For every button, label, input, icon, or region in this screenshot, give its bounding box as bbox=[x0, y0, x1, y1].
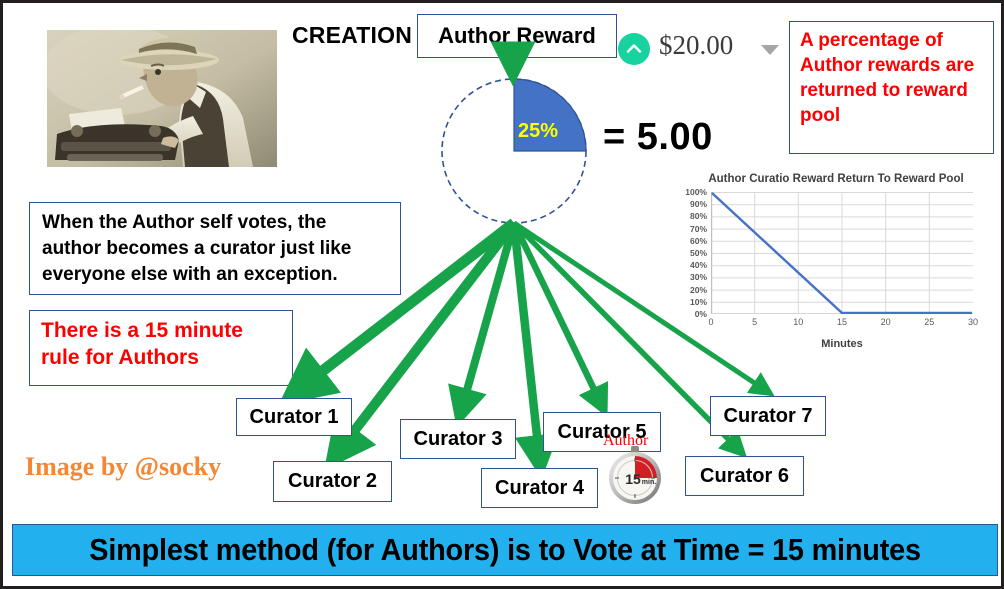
y-tick: 30% bbox=[690, 272, 707, 282]
curator-box-3: Curator 3 bbox=[400, 419, 516, 459]
y-tick: 20% bbox=[690, 285, 707, 295]
reward-pool-note: A percentage of Author rewards are retur… bbox=[789, 21, 994, 154]
y-tick: 70% bbox=[690, 224, 707, 234]
infographic-canvas: CREATION Author Reward $20.00 A percenta… bbox=[0, 0, 1004, 589]
y-tick: 90% bbox=[690, 199, 707, 209]
x-tick: 20 bbox=[881, 317, 891, 327]
chevron-up-icon[interactable] bbox=[618, 33, 650, 65]
x-tick: 10 bbox=[793, 317, 803, 327]
y-tick: 40% bbox=[690, 260, 707, 270]
y-tick: 0% bbox=[695, 309, 707, 319]
creation-label: CREATION bbox=[292, 22, 412, 49]
equation-result: = 5.00 bbox=[603, 116, 713, 159]
svg-text:15: 15 bbox=[625, 471, 641, 487]
y-tick: 10% bbox=[690, 297, 707, 307]
x-tick: 25 bbox=[924, 317, 934, 327]
x-tick: 0 bbox=[708, 317, 713, 327]
x-tick: 30 bbox=[968, 317, 978, 327]
curator-box-2: Curator 2 bbox=[273, 461, 392, 502]
reward-split-pie: 25% bbox=[440, 77, 588, 225]
bottom-banner: Simplest method (for Authors) is to Vote… bbox=[12, 524, 998, 576]
fifteen-minute-rule-note: There is a 15 minute rule for Authors bbox=[29, 310, 293, 386]
arrow-to-curator-3 bbox=[460, 223, 514, 415]
curator-box-6: Curator 6 bbox=[685, 456, 804, 496]
x-tick: 15 bbox=[837, 317, 847, 327]
svg-text:min.: min. bbox=[642, 479, 656, 486]
y-tick: 100% bbox=[685, 187, 707, 197]
arrow-to-curator-5 bbox=[514, 223, 603, 408]
chart-plot-area: 100% 90% 80% 70% 60% 50% 40% 30% 20% 10%… bbox=[711, 192, 973, 314]
chart-title: Author Curatio Reward Return To Reward P… bbox=[671, 173, 1001, 185]
stopwatch-icon: 15 min. bbox=[604, 444, 666, 506]
y-tick: 80% bbox=[690, 211, 707, 221]
pie-percent-label: 25% bbox=[518, 120, 558, 142]
author-reward-box: Author Reward bbox=[417, 14, 617, 58]
reward-return-chart: Author Curatio Reward Return To Reward P… bbox=[671, 170, 1001, 355]
image-credit: Image by @socky bbox=[25, 452, 221, 482]
caret-down-icon[interactable] bbox=[761, 45, 779, 55]
typewriter-photo bbox=[47, 30, 277, 167]
y-tick: 60% bbox=[690, 236, 707, 246]
bottom-banner-text: Simplest method (for Authors) is to Vote… bbox=[89, 532, 921, 568]
chart-x-axis-label: Minutes bbox=[711, 338, 973, 350]
curator-box-4: Curator 4 bbox=[481, 468, 598, 508]
payout-value[interactable]: $20.00 bbox=[659, 30, 733, 61]
y-tick: 50% bbox=[690, 248, 707, 258]
arrow-to-curator-4 bbox=[514, 223, 540, 464]
self-vote-note: When the Author self votes, the author b… bbox=[29, 202, 401, 295]
x-tick: 5 bbox=[752, 317, 757, 327]
curator-box-7: Curator 7 bbox=[710, 396, 826, 436]
curator-box-1: Curator 1 bbox=[236, 398, 352, 436]
